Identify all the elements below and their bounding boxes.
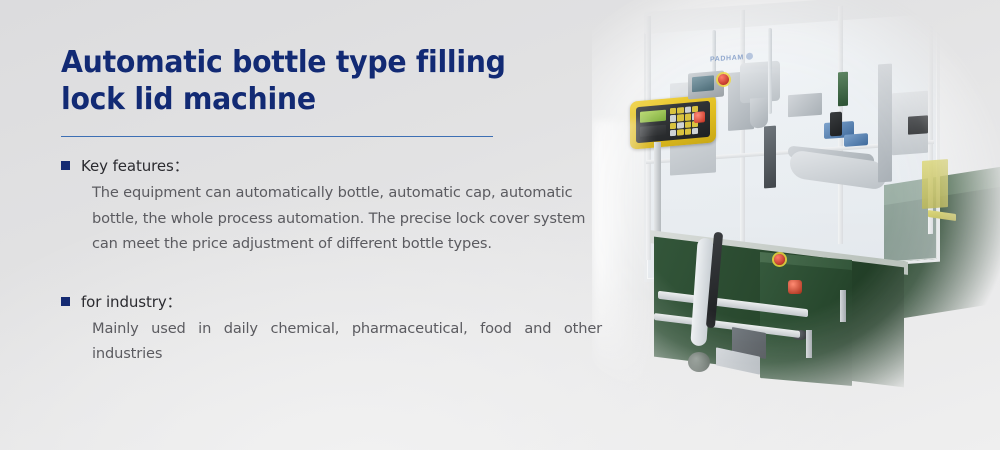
bullet-square-icon [61, 297, 70, 306]
title-divider [61, 136, 493, 137]
machine-photo: PADHAM [592, 0, 1000, 450]
bullet-square-icon [61, 161, 70, 170]
feature-title: Key features： [81, 156, 189, 176]
pneumatic-valve-block-2 [844, 133, 868, 147]
yellow-guard-panel [922, 159, 948, 209]
keypad-key [685, 121, 691, 128]
rear-drive-unit [908, 115, 928, 134]
rear-column [878, 64, 892, 183]
keypad-key [670, 129, 676, 136]
emergency-stop-icon-front [774, 254, 785, 265]
brand-dot-icon [746, 53, 753, 60]
feature-block-for-industry: for industry： Mainly used in daily chemi… [61, 292, 601, 367]
keypad-key [677, 114, 683, 121]
servo-motor [830, 112, 842, 137]
dosing-cylinder [764, 126, 776, 189]
keypad-key [670, 115, 676, 122]
keypad-key [685, 106, 691, 113]
supply-tube-right [768, 28, 772, 114]
rotary-switch-icon [788, 280, 802, 294]
panel-stop-button-icon [694, 111, 705, 123]
feature-body: The equipment can automatically bottle, … [92, 180, 602, 257]
feature-block-key-features: Key features： The equipment can automati… [61, 156, 601, 257]
feature-body: Mainly used in daily chemical, pharmaceu… [92, 316, 602, 367]
feature-heading-row: Key features： [61, 156, 601, 176]
photo-left-fade [592, 120, 654, 410]
feature-heading-row: for industry： [61, 292, 601, 312]
keypad-key [670, 108, 676, 115]
page-title: Automatic bottle type filling lock lid m… [61, 44, 563, 118]
keypad-key [685, 114, 691, 121]
hopper-cone [750, 97, 768, 128]
emergency-stop-icon-upper [718, 74, 729, 85]
machine-photo-content: PADHAM [592, 0, 1000, 450]
hmi-screen-face [692, 75, 714, 92]
keypad-key [692, 128, 698, 135]
text-column: Automatic bottle type filling lock lid m… [61, 44, 601, 367]
front-cabinet [760, 262, 852, 386]
product-banner: PADHAM [0, 0, 1000, 450]
indicator-strip [838, 72, 848, 107]
keypad-key [677, 129, 683, 136]
keypad-key [677, 107, 683, 114]
capper-head [788, 93, 822, 117]
keypad-key [685, 128, 691, 135]
feature-title: for industry： [81, 292, 182, 312]
keypad-key [677, 122, 683, 129]
leveling-foot-right [806, 330, 812, 358]
keypad-key [670, 122, 676, 129]
drive-wheel [688, 352, 710, 372]
leveling-foot-left [840, 290, 846, 322]
